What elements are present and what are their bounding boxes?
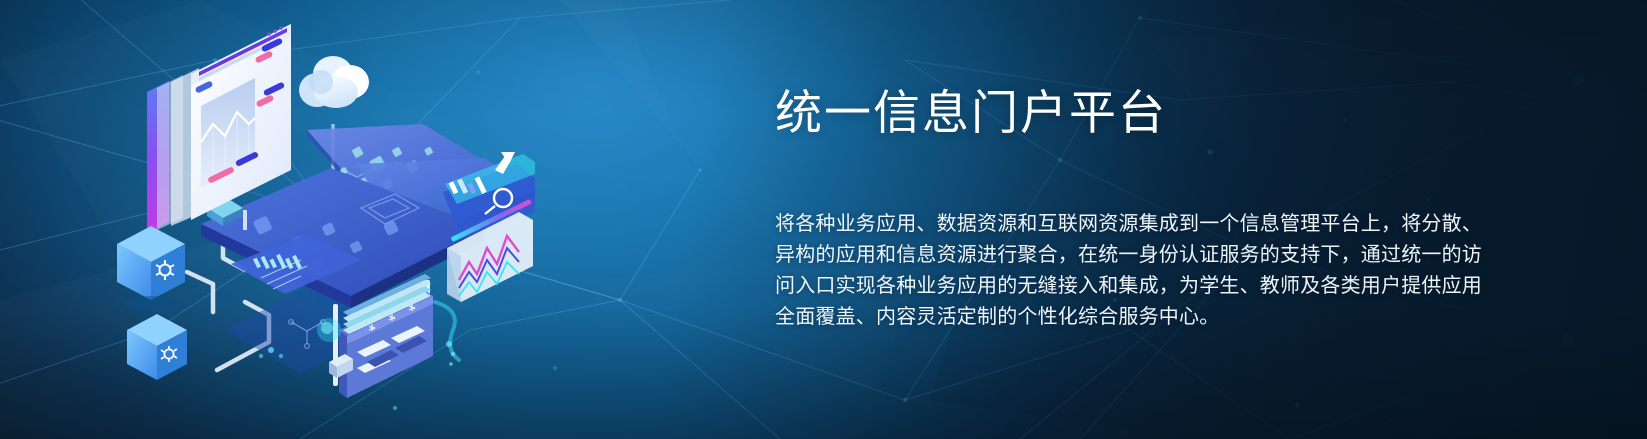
description-line-2: 异构的应用和信息资源进行聚合，在统一身份认证服务的支持下，通过统一的访	[775, 240, 1465, 271]
description-line-4: 全面覆盖、内容灵活定制的个性化综合服务中心。	[775, 302, 1465, 333]
page-title: 统一信息门户平台	[775, 86, 1475, 140]
banner-copy: 统一信息门户平台 将各种业务应用、数据资源和互联网资源集成到一个信息管理平台上，…	[775, 86, 1475, 140]
gear-cube-lower	[127, 314, 187, 380]
cloud-icon	[299, 56, 369, 108]
banner-description: 将各种业务应用、数据资源和互联网资源集成到一个信息管理平台上，将分散、 异构的应…	[775, 209, 1465, 333]
description-line-3: 问入口实现各种业务应用的无缝接入和集成，为学生、教师及各类用户提供应用	[775, 271, 1465, 302]
unified-portal-banner: 统一信息门户平台 将各种业务应用、数据资源和互联网资源集成到一个信息管理平台上，…	[0, 0, 1647, 439]
description-line-1: 将各种业务应用、数据资源和互联网资源集成到一个信息管理平台上，将分散、	[775, 209, 1465, 240]
isometric-data-platform-illustration	[95, 12, 535, 427]
cyan-swoosh	[435, 302, 459, 360]
gear-cube-upper	[117, 226, 185, 312]
